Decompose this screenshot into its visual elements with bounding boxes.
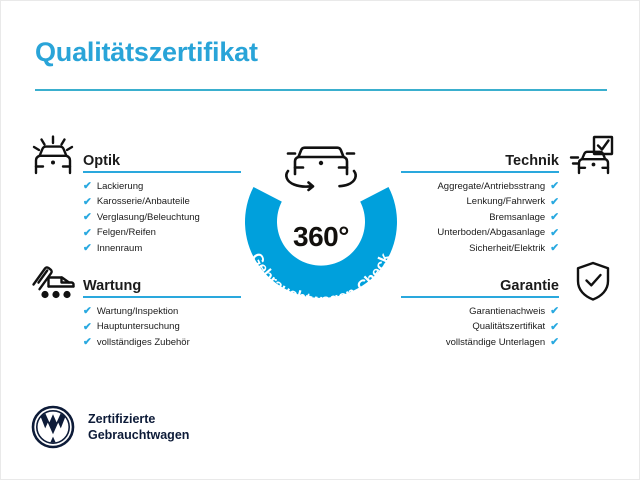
section-garantie: Garantie Garantienachweis✔ Qualitätszert… (401, 268, 559, 350)
qualitaetszertifikat-page: Qualitätszertifikat Optik (0, 0, 640, 480)
list-item: Lenkung/Fahrwerk✔ (401, 194, 559, 209)
list-item-label: Verglasung/Beleuchtung (97, 210, 200, 225)
check-icon: ✔ (550, 212, 559, 223)
check-icon: ✔ (83, 181, 92, 192)
footer-logo: Zertifizierte Gebrauchtwagen (31, 405, 189, 449)
check-icon: ✔ (550, 337, 559, 348)
check-icon: ✔ (83, 228, 92, 239)
list-item-label: vollständiges Zubehör (97, 335, 190, 350)
list-item: Sicherheit/Elektrik✔ (401, 241, 559, 256)
section-optik: Optik ✔Lackierung ✔Karosserie/Anbauteile… (83, 143, 241, 256)
vw-logo (31, 405, 75, 449)
section-garantie-list: Garantienachweis✔ Qualitätszertifikat✔ v… (401, 298, 559, 350)
list-item-label: Wartung/Inspektion (97, 304, 179, 319)
car-front-rotation-icon (286, 148, 355, 190)
list-item: ✔Verglasung/Beleuchtung (83, 210, 241, 225)
check-icon: ✔ (83, 337, 92, 348)
list-item-label: Garantienachweis (469, 304, 545, 319)
list-item-label: Innenraum (97, 241, 142, 256)
section-wartung-heading: Wartung (83, 278, 141, 294)
section-technik-header: Technik (401, 143, 559, 173)
section-wartung-divider (83, 296, 241, 298)
list-item-label: Aggregate/Antriebsstrang (437, 179, 545, 194)
section-technik-divider (401, 171, 559, 173)
check-icon: ✔ (83, 306, 92, 317)
list-item: ✔vollständiges Zubehör (83, 335, 241, 350)
list-item: Aggregate/Antriebsstrang✔ (401, 179, 559, 194)
check-icon: ✔ (550, 243, 559, 254)
list-item: Unterboden/Abgasanlage✔ (401, 225, 559, 240)
check-icon: ✔ (550, 197, 559, 208)
car-checkbox-icon (569, 135, 615, 182)
section-technik-list: Aggregate/Antriebsstrang✔ Lenkung/Fahrwe… (401, 173, 559, 256)
section-garantie-header: Garantie (401, 268, 559, 298)
list-item-label: Sicherheit/Elektrik (469, 241, 545, 256)
section-technik-heading: Technik (505, 153, 559, 169)
title-divider (35, 89, 607, 91)
section-garantie-heading: Garantie (500, 278, 559, 294)
section-wartung-list: ✔Wartung/Inspektion ✔Hauptuntersuchung ✔… (83, 298, 241, 350)
section-wartung-header: Wartung (83, 268, 241, 298)
list-item: ✔Hauptuntersuchung (83, 319, 241, 334)
list-item-label: Lenkung/Fahrwerk (467, 194, 546, 209)
check-icon: ✔ (550, 306, 559, 317)
car-on-lift-icon (28, 260, 78, 305)
list-item: vollständige Unterlagen✔ (401, 335, 559, 350)
check-icon: ✔ (550, 322, 559, 333)
check-icon: ✔ (83, 322, 92, 333)
list-item-label: Qualitätszertifikat (472, 319, 545, 334)
list-item: Garantienachweis✔ (401, 304, 559, 319)
check-icon: ✔ (83, 212, 92, 223)
list-item: ✔Innenraum (83, 241, 241, 256)
section-optik-list: ✔Lackierung ✔Karosserie/Anbauteile ✔Verg… (83, 173, 241, 256)
list-item-label: Karosserie/Anbauteile (97, 194, 190, 209)
section-wartung: Wartung ✔Wartung/Inspektion ✔Hauptunters… (83, 268, 241, 350)
badge-degrees-label: 360° (229, 221, 413, 253)
section-optik-heading: Optik (83, 153, 120, 169)
list-item-label: Hauptuntersuchung (97, 319, 180, 334)
page-title: Qualitätszertifikat (35, 37, 258, 68)
360-check-badge: Gebrauchtwagen-Check 360° (229, 123, 413, 313)
list-item-label: Unterboden/Abgasanlage (437, 225, 545, 240)
list-item-label: vollständige Unterlagen (446, 335, 545, 350)
footer-text: Zertifizierte Gebrauchtwagen (88, 411, 189, 443)
section-garantie-divider (401, 296, 559, 298)
car-shine-icon (28, 135, 78, 182)
check-icon: ✔ (83, 197, 92, 208)
list-item-label: Lackierung (97, 179, 143, 194)
footer-line-2: Gebrauchtwagen (88, 427, 189, 443)
list-item: ✔Wartung/Inspektion (83, 304, 241, 319)
list-item: Qualitätszertifikat✔ (401, 319, 559, 334)
section-optik-divider (83, 171, 241, 173)
shield-check-icon (573, 260, 613, 307)
check-icon: ✔ (550, 181, 559, 192)
list-item: Bremsanlage✔ (401, 210, 559, 225)
check-icon: ✔ (550, 228, 559, 239)
list-item-label: Bremsanlage (489, 210, 545, 225)
section-optik-header: Optik (83, 143, 241, 173)
section-technik: Technik Aggregate/Antriebsstrang✔ Lenkun… (401, 143, 559, 256)
check-icon: ✔ (83, 243, 92, 254)
list-item-label: Felgen/Reifen (97, 225, 156, 240)
list-item: ✔Felgen/Reifen (83, 225, 241, 240)
list-item: ✔Lackierung (83, 179, 241, 194)
list-item: ✔Karosserie/Anbauteile (83, 194, 241, 209)
footer-line-1: Zertifizierte (88, 411, 189, 427)
